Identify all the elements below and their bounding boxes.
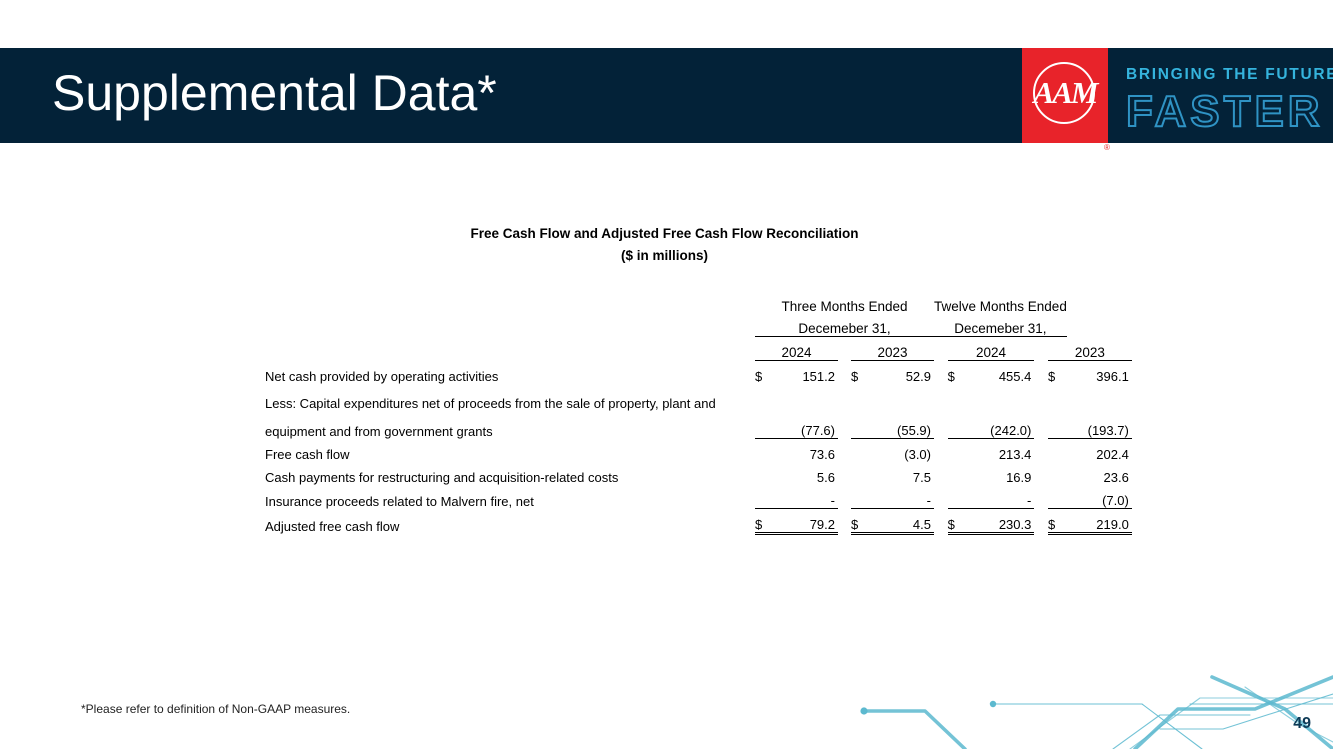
year-header-q4-2024: 2024 [755,337,838,361]
cell-value: 16.9 [966,462,1034,485]
cell-value: - [869,485,934,509]
year-header-fy-2023: 2023 [1048,337,1132,361]
cell-value: - [773,485,838,509]
cell-empty [773,384,838,415]
col-gap [838,462,851,485]
cell-value: 79.2 [773,509,838,534]
row-label-net-cash: Net cash provided by operating activitie… [265,361,755,385]
col-gap [838,415,851,439]
table-subtitle: ($ in millions) [0,248,1333,263]
table-body: Net cash provided by operating activitie… [265,361,1132,534]
cell-value: 52.9 [869,361,934,385]
col-gap [934,439,948,463]
col-gap [1034,485,1048,509]
cell-empty [851,485,869,509]
cell-value: 151.2 [773,361,838,385]
cell-value: 396.1 [1067,361,1132,385]
cell-empty [755,485,773,509]
col-gap [934,485,948,509]
brand-logo-lockup: AAM ® BRINGING THE FUTURE FASTER [1022,48,1333,143]
year-header-fy-2024: 2024 [948,337,1035,361]
cell-empty [851,384,869,415]
cell-empty [869,384,934,415]
tagline-line2: FASTER [1126,88,1324,136]
col-gap [934,361,948,385]
cell-empty [755,415,773,439]
cell-value: 7.5 [869,462,934,485]
col-gap [838,337,851,361]
group-header-three-months-line1: Three Months Ended [755,293,934,314]
table-title: Free Cash Flow and Adjusted Free Cash Fl… [0,226,1333,241]
row-label-restructuring: Cash payments for restructuring and acqu… [265,462,755,485]
col-gap [1034,439,1048,463]
aam-logo-mark: AAM [1022,48,1108,143]
cell-empty [948,384,967,415]
table-header: Three Months Ended Twelve Months Ended D… [265,293,1132,361]
col-gap [934,384,948,415]
cell-value: (3.0) [869,439,934,463]
col-gap [838,384,851,415]
table-row: Less: Capital expenditures net of procee… [265,384,1132,415]
table-row: Net cash provided by operating activitie… [265,361,1132,385]
cell-empty [851,439,869,463]
decorative-circuit-graphic [830,668,1333,749]
tagline-line1: BRINGING THE FUTURE [1126,66,1333,84]
currency-symbol: $ [851,361,869,385]
col-gap [838,485,851,509]
cell-value: 5.6 [773,462,838,485]
col-gap [1034,384,1048,415]
table-title-text: Free Cash Flow and Adjusted Free Cash Fl… [470,226,858,241]
col-gap [1034,462,1048,485]
col-gap [1034,337,1048,361]
currency-symbol: $ [1048,509,1067,534]
aam-wordmark: AAM [1022,62,1108,124]
cell-empty [1048,485,1067,509]
header-group-row-1: Three Months Ended Twelve Months Ended [265,293,1132,314]
cell-empty [948,462,967,485]
cell-value: 202.4 [1067,439,1132,463]
table-row: Cash payments for restructuring and acqu… [265,462,1132,485]
page-title: Supplemental Data* [52,62,497,124]
table-row: Insurance proceeds related to Malvern fi… [265,485,1132,509]
col-gap [838,361,851,385]
cell-value: (77.6) [773,415,838,439]
cell-empty [1048,439,1067,463]
cell-empty [1048,384,1067,415]
col-gap [934,415,948,439]
cell-value: 455.4 [966,361,1034,385]
currency-symbol: $ [755,509,773,534]
currency-symbol: $ [1048,361,1067,385]
cell-value: 230.3 [966,509,1034,534]
col-gap [934,337,948,361]
row-label-insurance-proceeds: Insurance proceeds related to Malvern fi… [265,485,755,509]
table-row: Free cash flow 73.6 (3.0) 213.4 202.4 [265,439,1132,463]
header-year-row: 2024 2023 2024 2023 [265,337,1132,361]
cell-value: - [966,485,1034,509]
cell-empty [755,384,773,415]
group-header-twelve-months-line2: Decemeber 31, [934,314,1067,337]
cell-value: (7.0) [1067,485,1132,509]
cell-value: (242.0) [966,415,1034,439]
col-gap [934,509,948,534]
cell-empty [1048,415,1067,439]
cell-empty [755,462,773,485]
page-number: 49 [1293,715,1311,733]
footnote-text: *Please refer to definition of Non-GAAP … [81,702,350,716]
cell-empty [755,439,773,463]
cell-value: 219.0 [1067,509,1132,534]
row-label-free-cash-flow: Free cash flow [265,439,755,463]
cell-empty [851,462,869,485]
cell-empty [966,384,1034,415]
row-label-capex-line2: equipment and from government grants [265,415,755,439]
cell-value: (55.9) [869,415,934,439]
cell-empty [948,485,967,509]
col-gap [934,462,948,485]
header-spacer [265,337,755,361]
col-gap [1034,509,1048,534]
cell-value: 23.6 [1067,462,1132,485]
table-row: Adjusted free cash flow $ 79.2 $ 4.5 $ 2… [265,509,1132,534]
year-header-q4-2023: 2023 [851,337,934,361]
col-gap [838,509,851,534]
cell-value: 4.5 [869,509,934,534]
free-cash-flow-table: Three Months Ended Twelve Months Ended D… [265,293,1132,535]
group-header-twelve-months-line1: Twelve Months Ended [934,293,1067,314]
currency-symbol: $ [851,509,869,534]
header-spacer [265,314,755,337]
currency-symbol: $ [948,361,967,385]
header-spacer-end [1067,293,1132,314]
row-label-capex-line1: Less: Capital expenditures net of procee… [265,384,755,415]
table-row: equipment and from government grants (77… [265,415,1132,439]
cell-value: 213.4 [966,439,1034,463]
col-gap [1034,415,1048,439]
cell-empty [851,415,869,439]
currency-symbol: $ [755,361,773,385]
cell-value: 73.6 [773,439,838,463]
cell-empty [948,439,967,463]
cell-value: (193.7) [1067,415,1132,439]
header-spacer-end [1067,314,1132,337]
row-label-adjusted-free-cash-flow: Adjusted free cash flow [265,509,755,534]
header-spacer [265,293,755,314]
cell-empty [1048,462,1067,485]
currency-symbol: $ [948,509,967,534]
registered-trademark-icon: ® [1104,143,1110,152]
header-group-row-2: Decemeber 31, Decemeber 31, [265,314,1132,337]
col-gap [838,439,851,463]
col-gap [1034,361,1048,385]
cell-empty [1067,384,1132,415]
group-header-three-months-line2: Decemeber 31, [755,314,934,337]
table-subtitle-text: ($ in millions) [621,248,708,263]
cell-empty [948,415,967,439]
